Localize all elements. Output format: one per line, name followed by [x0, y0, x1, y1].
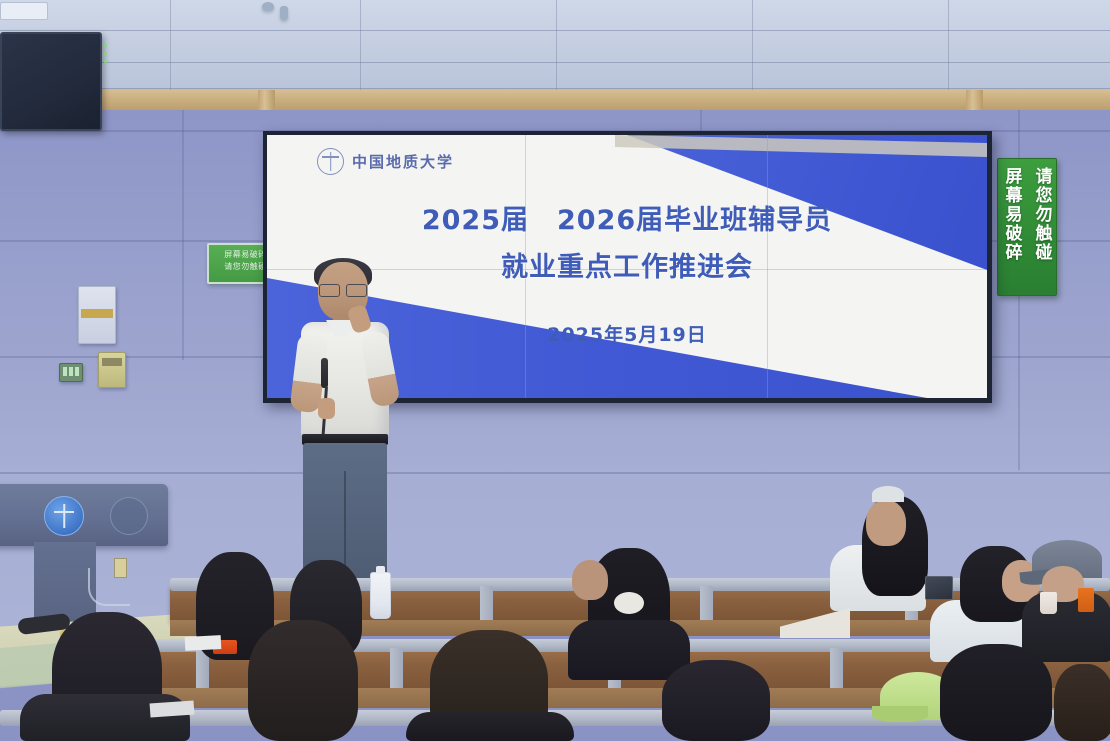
warning-sign-right-col1: 请您勿触碰 [1030, 167, 1055, 295]
ceiling-vent [0, 2, 48, 20]
cap-brim [872, 706, 928, 722]
bench-post [480, 586, 493, 620]
bench-post [830, 648, 843, 688]
tablet-device [925, 576, 953, 600]
lecture-hall-photo: 屏幕易破碎 请您勿触碰 请您勿触碰 屏幕易破碎 中国地质大学 2025届2026… [0, 0, 1110, 741]
wall-control-box[interactable] [98, 352, 126, 388]
drink-cup [1078, 588, 1094, 612]
ceiling-beam [0, 90, 1110, 112]
drink-cup [1040, 592, 1057, 614]
slide-title-part2: 2026届毕业班辅导员 [557, 205, 832, 236]
warning-sign-right-col2: 屏幕易破碎 [1000, 167, 1025, 295]
sprinkler-icon [262, 2, 274, 11]
hair-clip-icon [872, 486, 904, 502]
lectern-emblem-secondary [110, 497, 148, 535]
slide-title-part1: 2025届 [422, 205, 529, 236]
sprinkler-icon [280, 6, 288, 20]
audience-person [940, 644, 1052, 741]
warning-sign-right: 请您勿触碰 屏幕易破碎 [997, 158, 1057, 296]
lectern-cable [88, 568, 130, 606]
water-bottle [370, 572, 391, 619]
audience-person-body [1022, 592, 1110, 662]
university-name: 中国地质大学 [352, 151, 454, 172]
university-emblem-icon [44, 496, 84, 536]
audience-person-body [20, 694, 190, 741]
lectern-top [0, 484, 168, 546]
university-seal-icon [317, 148, 344, 175]
audience-head [866, 500, 906, 546]
ceiling [0, 0, 1110, 92]
bench-post [700, 586, 713, 620]
presenter [288, 262, 408, 592]
paper-sheet [185, 635, 222, 651]
audience-person [1054, 664, 1110, 741]
audience-person-body [406, 712, 574, 741]
microphone-icon [321, 358, 328, 388]
audience-person [662, 660, 770, 741]
presenter-hand-holding-mic [318, 398, 335, 419]
slide-logo: 中国地质大学 [317, 148, 454, 175]
wall-panel-upper [78, 286, 116, 344]
audience-person [248, 620, 358, 741]
wall-monitor [0, 32, 102, 131]
audience-head-side [572, 560, 608, 600]
audience-person-body [568, 620, 690, 680]
hair-accessory [614, 592, 644, 614]
wall-switch-plate[interactable] [59, 363, 83, 382]
bench-post [390, 648, 403, 688]
glasses-icon [319, 284, 367, 295]
